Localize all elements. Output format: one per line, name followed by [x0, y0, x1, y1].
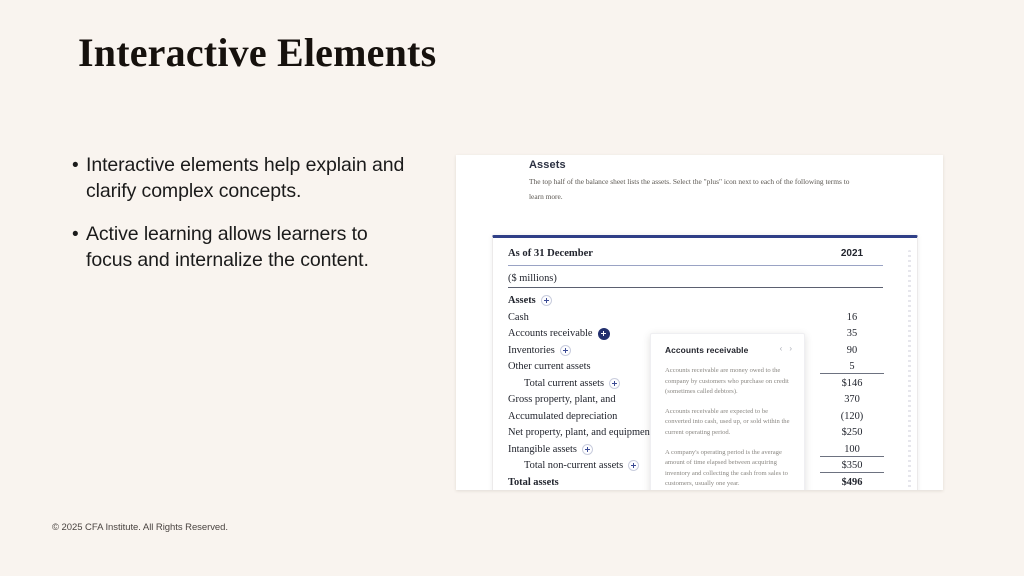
bullet-marker-icon: •	[72, 153, 86, 179]
row-label-cell: Assets	[508, 295, 726, 306]
row-label: Other current assets	[508, 361, 591, 372]
row-label: Total current assets	[524, 378, 604, 389]
row-value-2: $250	[810, 427, 894, 438]
popup-paragraph: Accounts receivable are expected to be c…	[665, 407, 792, 439]
table-title-label: As of 31 December	[508, 248, 726, 259]
bullet-marker-icon: •	[72, 222, 86, 248]
plus-icon[interactable]	[560, 345, 571, 356]
plus-icon[interactable]	[582, 444, 593, 455]
row-value-2: 100	[810, 444, 894, 455]
row-value-2: 5	[810, 361, 894, 372]
row-value-2: $146	[810, 378, 894, 389]
column-header-2: 2021	[810, 248, 894, 259]
header-rule	[508, 265, 883, 266]
vertical-scrollbar[interactable]	[908, 250, 911, 490]
row-label: Cash	[508, 312, 529, 323]
row-label: Accounts receivable	[508, 328, 593, 339]
balance-sheet-card: As of 31 December 2021 ($ millions) Asse…	[492, 235, 918, 490]
row-label: Gross property, plant, and	[508, 394, 616, 405]
popup-body: Accounts receivable are money owed to th…	[665, 366, 792, 490]
page-title: Interactive Elements	[78, 31, 436, 75]
row-label: Intangible assets	[508, 444, 577, 455]
bullet-list: • Interactive elements help explain and …	[72, 153, 417, 291]
popup-paragraph: A company's operating period is the aver…	[665, 448, 792, 490]
table-header-row: As of 31 December 2021	[493, 242, 901, 264]
row-value-2: 35	[810, 328, 894, 339]
row-label: Net property, plant, and equipment	[508, 427, 653, 438]
row-value-2: (120)	[810, 411, 894, 422]
plus-icon-active[interactable]	[598, 328, 610, 340]
plus-icon[interactable]	[609, 378, 620, 389]
assets-heading: Assets	[529, 159, 566, 171]
units-rule	[508, 287, 883, 288]
table-row: Cash16	[493, 309, 901, 326]
plus-icon[interactable]	[628, 460, 639, 471]
row-label: Inventories	[508, 345, 555, 356]
popup-nav: ‹ ›	[780, 345, 792, 353]
list-item: • Interactive elements help explain and …	[72, 153, 417, 204]
row-label: Total assets	[508, 477, 559, 488]
assets-description: The top half of the balance sheet lists …	[529, 175, 859, 204]
plus-icon[interactable]	[541, 295, 552, 306]
row-value-2: 370	[810, 394, 894, 405]
slide-canvas: Interactive Elements • Interactive eleme…	[0, 0, 1024, 576]
units-label: ($ millions)	[508, 273, 726, 284]
chevron-right-icon[interactable]: ›	[789, 345, 792, 353]
row-value-2: 16	[810, 312, 894, 323]
popup-paragraph: Accounts receivable are money owed to th…	[665, 366, 792, 398]
row-label-cell: Cash	[508, 312, 726, 323]
row-label: Assets	[508, 295, 536, 306]
term-definition-popup: Accounts receivable ‹ › Accounts receiva…	[650, 333, 805, 490]
bullet-text: Interactive elements help explain and cl…	[86, 153, 417, 204]
popup-title: Accounts receivable	[665, 345, 792, 355]
interactive-demo-panel: Assets The top half of the balance sheet…	[456, 155, 943, 490]
row-value-2: $496	[810, 477, 894, 488]
row-label: Accumulated depreciation	[508, 411, 617, 422]
row-label: Total non-current assets	[524, 460, 623, 471]
table-row[interactable]: Assets	[493, 293, 901, 310]
copyright-footer: © 2025 CFA Institute. All Rights Reserve…	[52, 522, 228, 533]
chevron-left-icon[interactable]: ‹	[780, 345, 783, 353]
bullet-text: Active learning allows learners to focus…	[86, 222, 417, 273]
row-value-2: $350	[810, 460, 894, 471]
table-units-row: ($ millions)	[493, 270, 901, 287]
list-item: • Active learning allows learners to foc…	[72, 222, 417, 273]
row-value-2: 90	[810, 345, 894, 356]
